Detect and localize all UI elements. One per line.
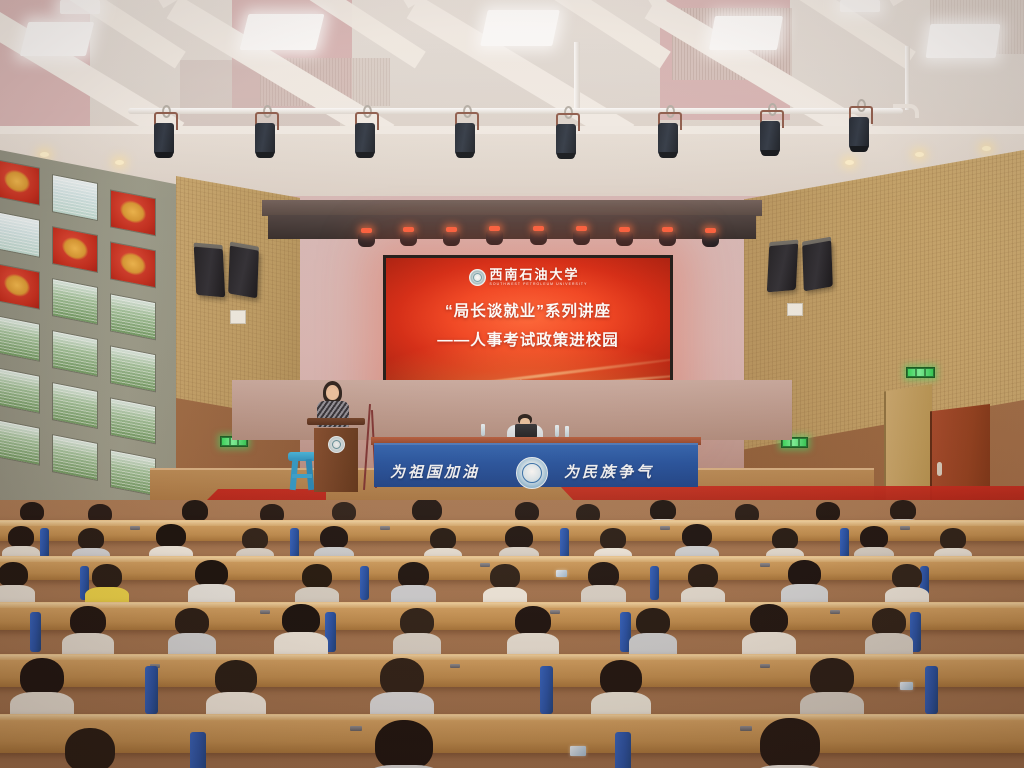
seat-back[interactable]	[30, 612, 41, 652]
bench-row	[0, 714, 1024, 753]
audience-member	[380, 658, 424, 696]
lecture-title-line2: ——人事考试政策进校园	[437, 328, 619, 350]
seat-back[interactable]	[40, 528, 49, 558]
seat-back[interactable]	[560, 528, 569, 558]
stage-spotlight-icon	[151, 112, 177, 158]
wall-plate	[230, 310, 246, 324]
water-bottle	[555, 425, 559, 437]
audience-member	[65, 728, 115, 768]
audience-member	[890, 500, 916, 521]
organizer-line: 承办单位：西南石油大学学生发展部（就业）	[386, 365, 670, 376]
seat-clip	[130, 526, 140, 530]
stage-spotlight-icon	[252, 112, 278, 158]
audience-member	[600, 528, 626, 550]
audience-member	[892, 564, 922, 589]
audience-member	[400, 608, 434, 636]
audience-member	[636, 608, 670, 636]
stage-wash-light-icon	[616, 231, 633, 246]
audience-member	[8, 526, 34, 548]
university-roundel-icon	[469, 269, 486, 286]
auditorium-photo: 西南石油大学 SOUTHWEST PETROLEUM UNIVERSITY “局…	[0, 0, 1024, 768]
audience-member	[600, 660, 642, 696]
seat-clip	[350, 726, 362, 731]
audience-member	[412, 500, 442, 522]
stage-wash-light-icon	[443, 231, 460, 246]
ceiling-panel-light	[20, 22, 94, 56]
seat-back[interactable]	[540, 666, 553, 714]
lighting-truss-bar	[128, 108, 903, 114]
audience-member	[375, 720, 433, 768]
audience-member	[282, 604, 320, 635]
stage-spotlight-icon	[452, 112, 478, 158]
stage-spotlight-icon	[846, 106, 872, 152]
audience-member	[182, 500, 208, 522]
banner-text-right: 为民族争气	[564, 461, 654, 482]
laptop	[515, 424, 537, 438]
lecture-title-line1: “局长谈就业”系列讲座	[445, 299, 611, 321]
university-seal-icon	[328, 436, 345, 453]
audience-member	[650, 500, 676, 521]
stage-wash-light-icon	[573, 230, 590, 245]
audience-member	[860, 526, 888, 549]
seat-back[interactable]	[145, 666, 158, 714]
proscenium-light-bar	[268, 215, 756, 239]
audience-member	[242, 528, 268, 550]
wall-speaker	[228, 246, 259, 299]
lectern-podium	[310, 418, 362, 496]
seat-back[interactable]	[650, 566, 659, 600]
audience-member	[940, 528, 966, 550]
seat-back[interactable]	[615, 732, 631, 768]
bench-row	[0, 602, 1024, 630]
truss-riser	[574, 42, 580, 112]
audience-member	[195, 560, 228, 587]
stage-wash-light-icon	[486, 230, 503, 245]
exit-sign[interactable]	[906, 367, 935, 378]
audience-member	[70, 606, 106, 636]
recessed-downlight	[845, 160, 854, 165]
university-roundel-icon	[516, 457, 548, 489]
ceiling-panel-light	[480, 10, 560, 46]
stage-wash-light-icon	[400, 231, 417, 246]
audience-member	[92, 564, 122, 589]
truss-riser	[905, 46, 910, 110]
audience-member	[320, 526, 348, 549]
ceiling	[0, 0, 1024, 200]
seat-back[interactable]	[190, 732, 206, 768]
stage-wash-light-icon	[530, 230, 547, 245]
wall-speaker	[194, 247, 225, 298]
seat-back[interactable]	[360, 566, 369, 600]
seat-clip	[550, 610, 560, 614]
seated-student-audience	[0, 500, 1024, 768]
university-name-cn: 西南石油大学	[490, 268, 588, 281]
smartphone	[900, 682, 913, 690]
stage-spotlight-icon	[352, 112, 378, 158]
ceiling-panel-light	[60, 0, 100, 14]
audience-member	[20, 658, 64, 696]
banner-text-left: 为祖国加油	[390, 461, 480, 482]
ceiling-panel-light	[240, 14, 325, 50]
seat-clip	[480, 563, 490, 567]
audience-member	[302, 564, 332, 589]
audience-member	[750, 604, 788, 635]
audience-member	[175, 608, 209, 636]
seat-back[interactable]	[290, 528, 299, 558]
ceiling-panel-light	[709, 16, 783, 50]
audience-member	[872, 608, 906, 636]
seat-clip	[830, 610, 840, 614]
audience-member	[20, 502, 44, 522]
ceiling-panel-light	[840, 0, 880, 12]
audience-member	[430, 528, 456, 550]
audience-member	[688, 564, 718, 589]
stage-wash-light-icon	[702, 232, 719, 247]
audience-member	[505, 526, 533, 549]
audience-member	[588, 562, 619, 588]
audience-member	[772, 528, 798, 550]
seat-clip	[760, 664, 770, 668]
proscenium-beam	[262, 200, 762, 216]
wall-speaker	[767, 244, 798, 293]
head-table: 为祖国加油 为民族争气	[374, 437, 698, 487]
water-bottle	[481, 424, 485, 436]
audience-member	[490, 564, 520, 589]
recessed-downlight	[982, 146, 991, 151]
stage-spotlight-icon	[655, 112, 681, 158]
seat-clip	[760, 563, 770, 567]
smartphone	[570, 746, 586, 756]
door-handle[interactable]	[937, 462, 942, 476]
university-logo: 西南石油大学 SOUTHWEST PETROLEUM UNIVERSITY	[469, 268, 588, 286]
stage-spotlight-icon	[757, 110, 783, 156]
stage-spotlight-icon	[553, 113, 579, 159]
wall-plate	[787, 303, 803, 316]
recessed-downlight	[40, 152, 49, 157]
audience-member	[760, 718, 820, 768]
university-name-en: SOUTHWEST PETROLEUM UNIVERSITY	[490, 283, 588, 286]
audience-member	[515, 606, 551, 636]
recessed-downlight	[115, 160, 124, 165]
audience-member	[156, 524, 186, 548]
recessed-downlight	[915, 152, 924, 157]
seat-clip	[740, 726, 752, 731]
seat-clip	[450, 664, 460, 668]
stage-wash-light-icon	[358, 232, 375, 247]
audience-member	[78, 528, 104, 550]
seat-clip	[660, 526, 670, 530]
audience-member	[788, 560, 821, 587]
seat-clip	[380, 526, 390, 530]
audience-member	[332, 502, 356, 522]
seat-clip	[900, 526, 910, 530]
ceiling-panel-light	[926, 24, 1001, 58]
smartphone	[556, 570, 567, 577]
seat-back[interactable]	[840, 528, 849, 558]
audience-member	[810, 658, 854, 696]
seat-back[interactable]	[925, 666, 938, 714]
wall-speaker	[802, 241, 833, 292]
audience-member	[816, 502, 840, 522]
stage-wash-light-icon	[659, 231, 676, 246]
audience-member	[215, 660, 257, 696]
audience-member	[0, 562, 28, 587]
seat-clip	[260, 610, 270, 614]
audience-member	[515, 502, 539, 522]
audience-member	[682, 524, 712, 548]
audience-member	[398, 562, 429, 588]
